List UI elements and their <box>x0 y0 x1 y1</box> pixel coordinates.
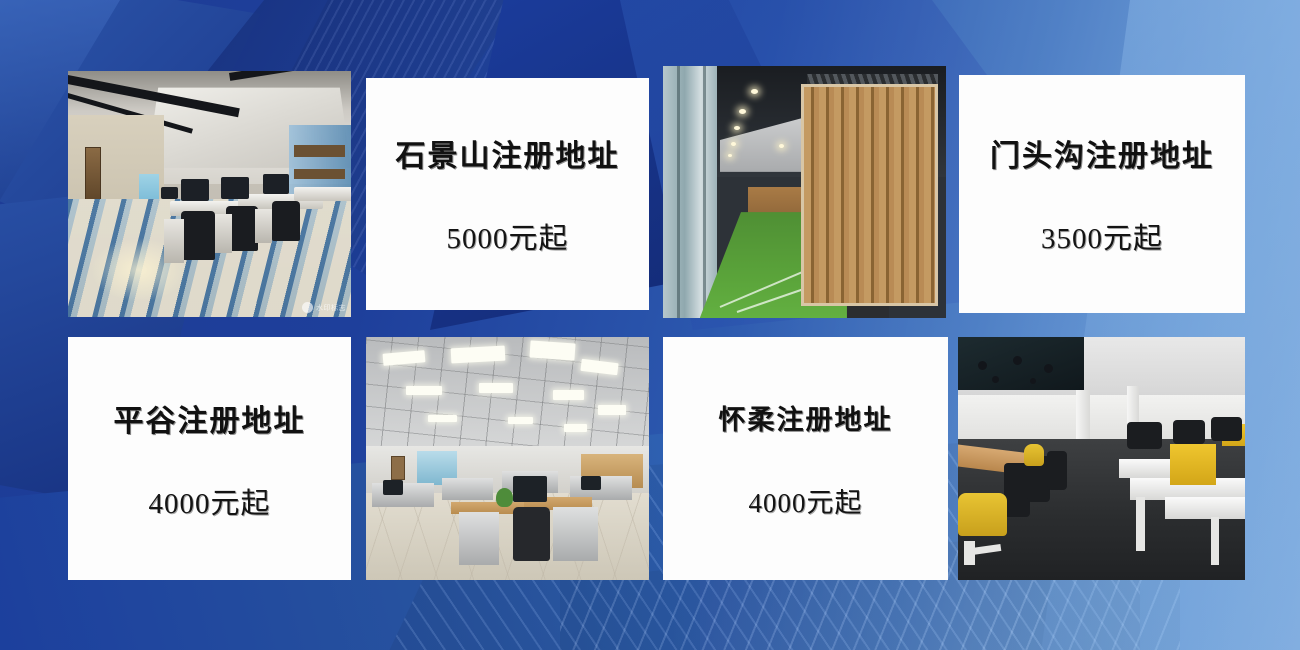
monitor <box>181 179 209 201</box>
computer-tower <box>255 209 272 243</box>
card-text-mentougou[interactable]: 门头沟注册地址 3500元起 <box>959 75 1245 313</box>
office-chair <box>1047 451 1067 490</box>
desk-leg <box>1211 517 1220 566</box>
card-price: 4000元起 <box>148 480 270 522</box>
card-price: 4000元起 <box>749 481 863 520</box>
dark-ceiling-bay <box>958 337 1084 390</box>
desk <box>294 187 351 202</box>
ceiling-spotlight <box>751 89 758 94</box>
yellow-desk-divider <box>1170 444 1216 485</box>
desk-plant <box>496 488 513 507</box>
slide-canvas: 水印标志 石景山注册地址 5000元起 <box>0 0 1300 650</box>
track-light <box>1013 356 1022 365</box>
wood-shelf <box>294 145 345 157</box>
computer-tower <box>215 214 232 253</box>
ceiling-spotlight <box>731 142 736 146</box>
desk-leg <box>1136 497 1145 550</box>
office-chair <box>513 507 550 560</box>
ceiling-light <box>508 417 533 424</box>
card-grid: 水印标志 石景山注册地址 5000元起 <box>0 0 1300 650</box>
office-chair <box>1004 463 1030 516</box>
ceiling-light <box>564 424 587 431</box>
watermark-logo-icon <box>302 302 313 313</box>
office-chair <box>181 211 215 260</box>
card-text-pinggu[interactable]: 平谷注册地址 4000元起 <box>68 337 351 580</box>
image-watermark: 水印标志 <box>302 302 346 313</box>
card-photo-modern-yellow-office[interactable] <box>958 337 1245 580</box>
desk-pedestal <box>459 512 499 565</box>
card-photo-open-plan-office[interactable] <box>366 337 649 580</box>
wood-slat-partition <box>801 84 937 307</box>
office-photo-a: 水印标志 <box>68 71 351 317</box>
office-chair <box>1211 417 1243 441</box>
card-price: 5000元起 <box>446 215 568 257</box>
glass-partition-wall <box>663 66 717 318</box>
monitor <box>161 187 178 199</box>
cubicle-partition <box>372 483 434 507</box>
ceiling-light <box>479 383 513 393</box>
window-mullion <box>703 66 706 318</box>
ceiling-light <box>598 405 626 415</box>
track-light <box>1044 364 1053 373</box>
ceiling-light <box>428 415 456 422</box>
monitor <box>221 177 249 199</box>
office-photo-b <box>663 66 946 318</box>
ceiling-light <box>406 386 443 396</box>
office-chair <box>1173 420 1205 444</box>
card-price: 3500元起 <box>1041 215 1163 257</box>
monitor <box>513 476 547 503</box>
desk-pedestal <box>553 507 598 560</box>
wall-picture <box>391 456 404 480</box>
card-text-huairou[interactable]: 怀柔注册地址 4000元起 <box>663 337 948 580</box>
office-chair <box>1127 422 1161 449</box>
card-title: 门头沟注册地址 <box>990 131 1214 175</box>
card-title: 怀柔注册地址 <box>719 398 893 437</box>
office-chair <box>272 201 300 240</box>
yellow-accent-chair <box>1024 444 1044 466</box>
card-photo-corridor-green-turf[interactable] <box>663 66 946 318</box>
cubicle-partition <box>570 476 632 500</box>
window-mullion <box>677 66 680 318</box>
cubicle-partition <box>442 478 493 500</box>
card-title: 平谷注册地址 <box>114 396 306 440</box>
computer-tower <box>164 219 184 263</box>
chair-base <box>964 541 975 565</box>
card-photo-office-striped-carpet[interactable]: 水印标志 <box>68 71 351 317</box>
wall-picture <box>85 147 101 203</box>
ceiling-light <box>553 390 584 400</box>
monitor <box>263 174 288 194</box>
ceiling-light <box>530 340 576 360</box>
ceiling-light <box>451 345 505 362</box>
card-text-shijingshan[interactable]: 石景山注册地址 5000元起 <box>366 78 649 310</box>
white-desk <box>1165 497 1245 519</box>
monitor <box>383 480 403 495</box>
card-title: 石景山注册地址 <box>396 131 620 175</box>
watermark-text: 水印标志 <box>316 303 346 313</box>
yellow-accent-chair <box>958 493 1007 537</box>
wood-shelf <box>294 169 345 179</box>
office-photo-c <box>366 337 649 580</box>
monitor <box>581 476 601 491</box>
office-photo-d <box>958 337 1245 580</box>
